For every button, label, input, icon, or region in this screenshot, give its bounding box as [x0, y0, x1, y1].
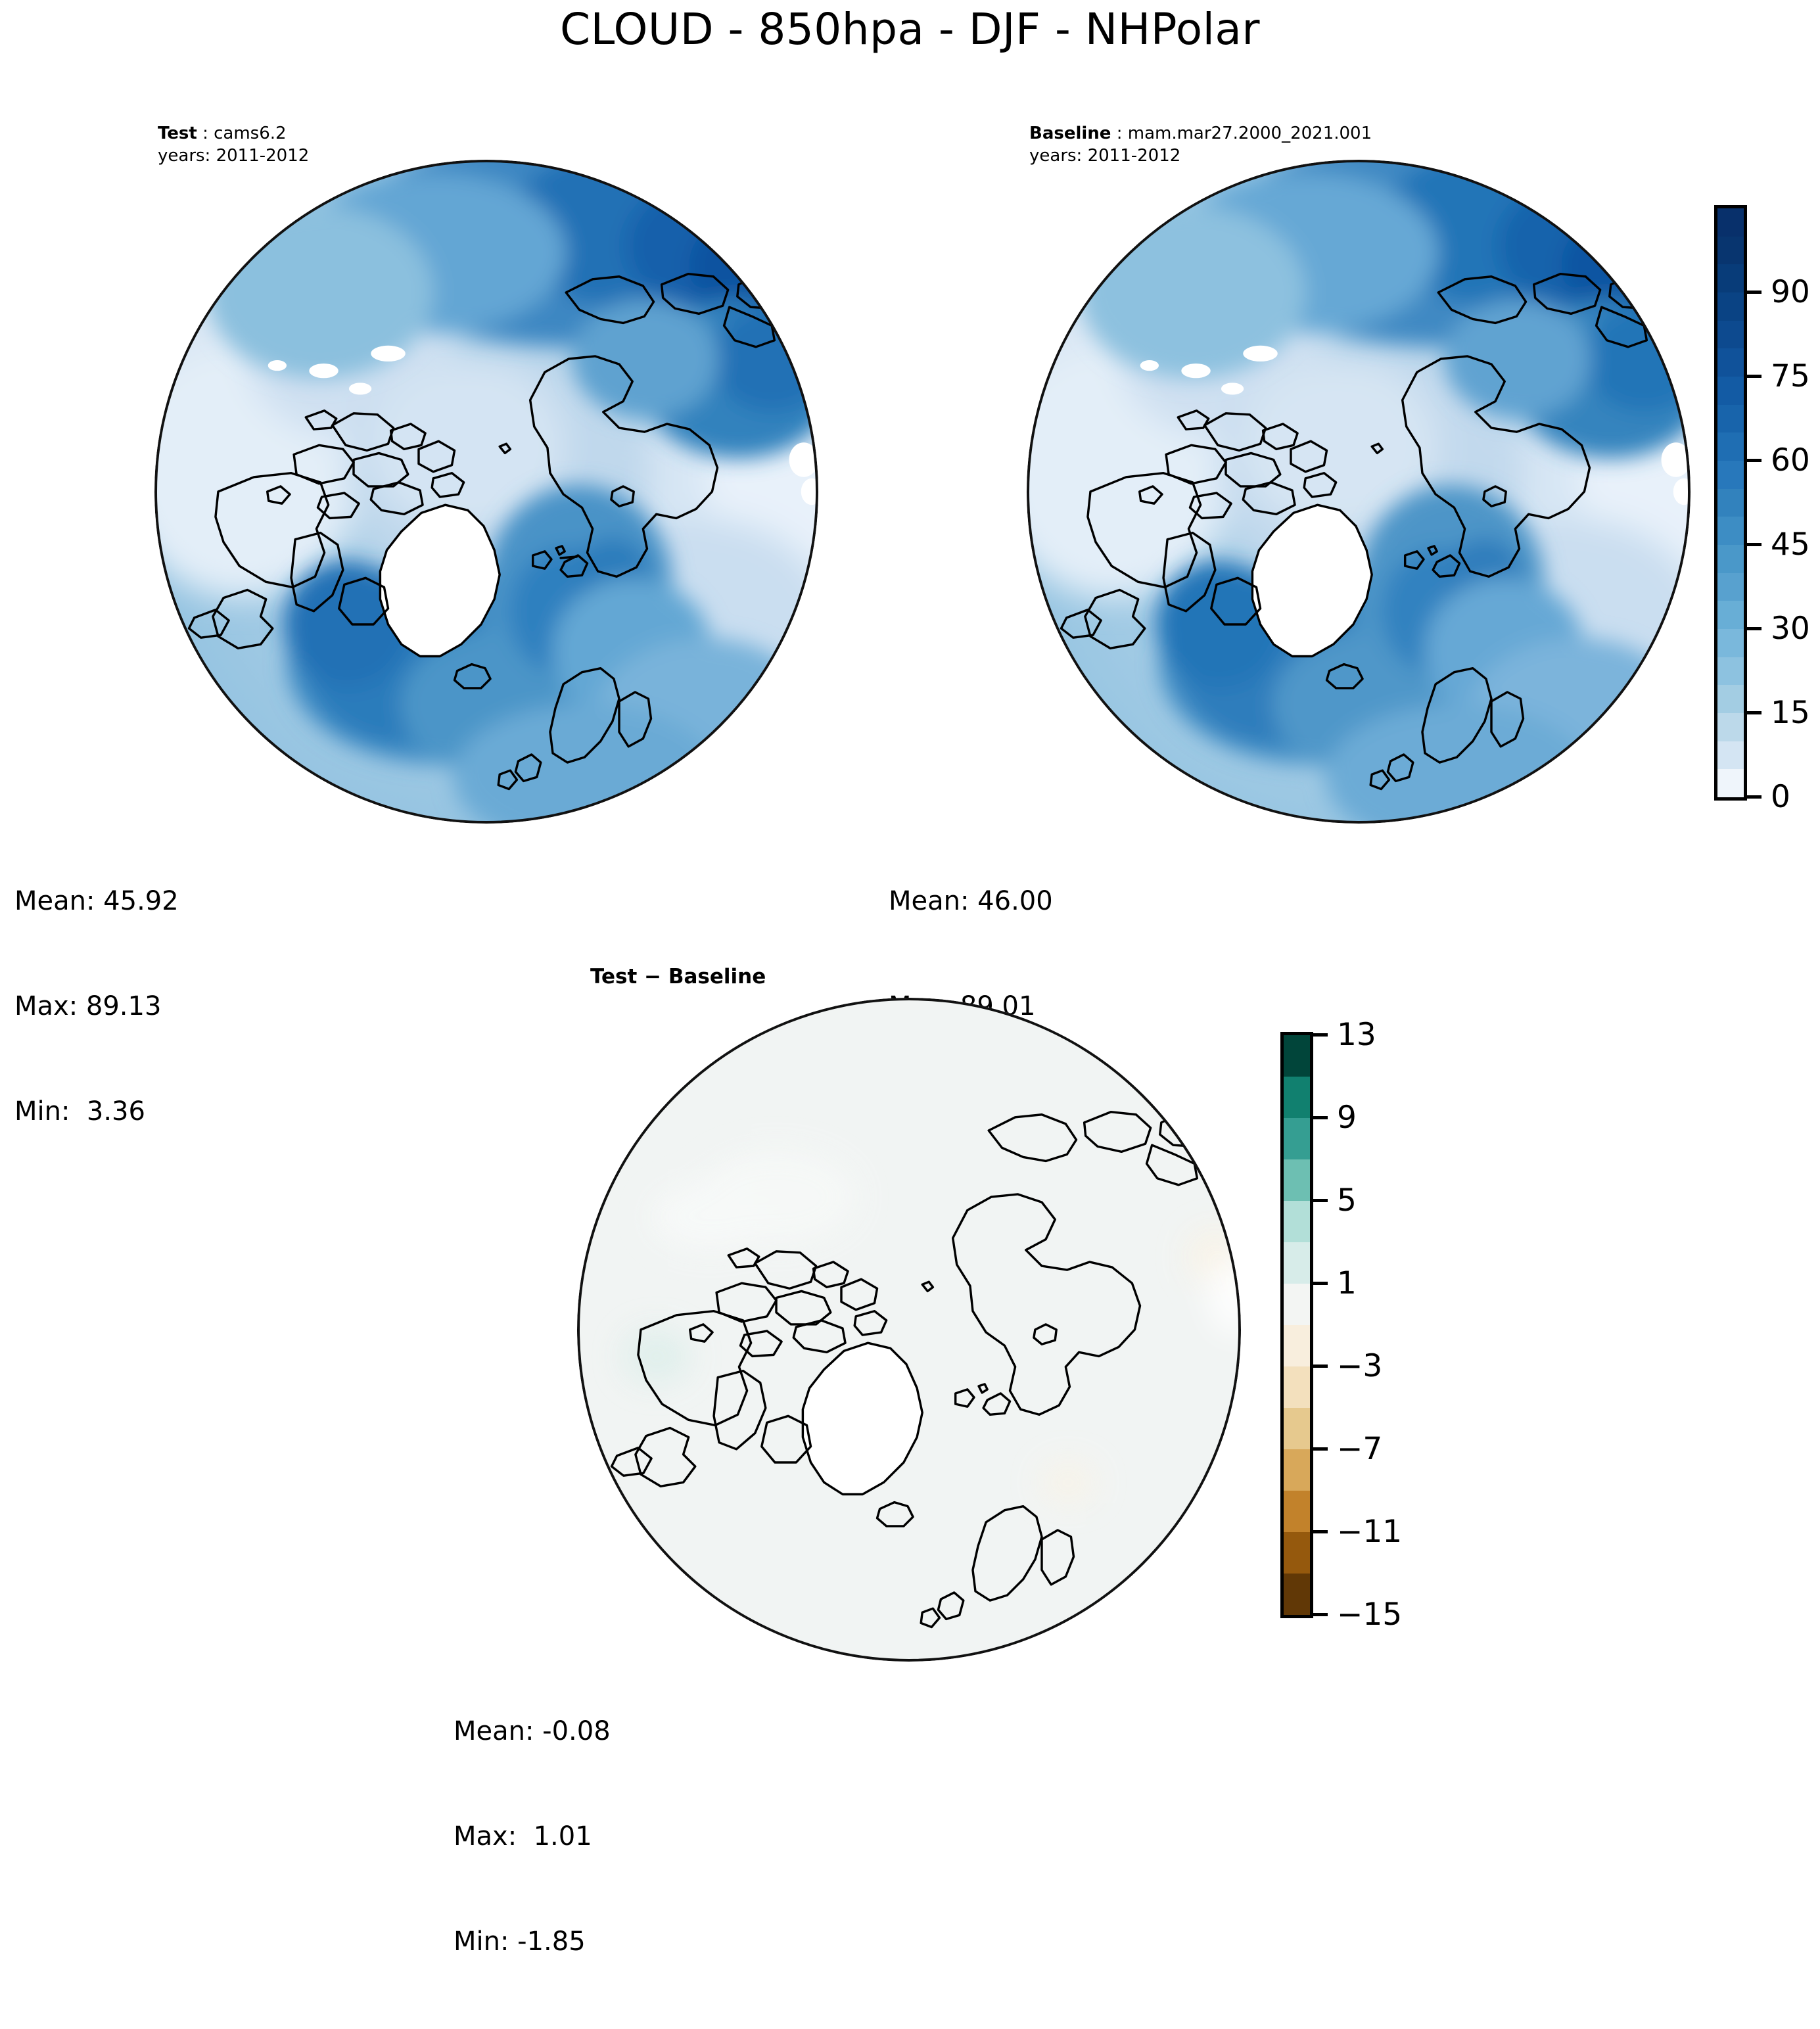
colorbar-band [1284, 1077, 1310, 1118]
colorbar-tick-label: 9 [1337, 1102, 1357, 1133]
colorbar-band [1717, 208, 1744, 237]
colorbar-tick-mark [1313, 1530, 1328, 1533]
colorbar-band [1284, 1201, 1310, 1242]
baseline-label-value: mam.mar27.2000_2021.001 [1128, 124, 1372, 143]
colorbar-band [1284, 1366, 1310, 1408]
diff-stat-mean: Mean: -0.08 [454, 1714, 611, 1749]
colorbar-tick-label: 5 [1337, 1185, 1357, 1216]
colorbar-tick-label: 45 [1771, 529, 1810, 560]
colorbar-band [1717, 601, 1744, 629]
diff-stats: Mean: -0.08 Max: 1.01 Min: -1.85 [454, 1644, 611, 2029]
figure-canvas: CLOUD - 850hpa - DJF - NHPolar Test : ca… [0, 0, 1820, 1753]
colorbar-band [1284, 1408, 1310, 1449]
colorbar-tick-mark [1747, 795, 1762, 799]
colorbar-band [1717, 321, 1744, 349]
baseline-label-sep: : [1111, 124, 1127, 143]
colorbar-band [1717, 685, 1744, 713]
colorbar-band [1284, 1284, 1310, 1325]
colorbar-band [1284, 1574, 1310, 1615]
colorbar-tick: 9 [1313, 1102, 1357, 1133]
diff-stat-min: Min: -1.85 [454, 1924, 611, 1959]
colorbar-tick-mark [1313, 1199, 1328, 1202]
colorbar-tick-mark [1313, 1282, 1328, 1285]
diff-colorbar-ticks: 13951−3−7−11−15 [1313, 1032, 1458, 1618]
colorbar-band [1717, 713, 1744, 741]
colorbar-band [1717, 348, 1744, 377]
colorbar-tick: 90 [1747, 277, 1810, 308]
test-stat-max: Max: 89.13 [14, 989, 179, 1024]
colorbar-tick-mark [1313, 1033, 1328, 1037]
test-map-clip [154, 160, 818, 824]
diff-map-panel [577, 998, 1241, 1662]
baseline-map-clip [1027, 160, 1691, 824]
colorbar-band [1717, 377, 1744, 405]
colorbar-band [1717, 292, 1744, 321]
colorbar-tick-label: 30 [1771, 613, 1810, 644]
main-colorbar-ticks: 9075604530150 [1747, 205, 1820, 801]
baseline-stat-mean: Mean: 46.00 [889, 884, 1053, 919]
colorbar-tick-mark [1313, 1447, 1328, 1451]
colorbar-tick-mark [1747, 375, 1762, 378]
colorbar-tick-label: 1 [1337, 1268, 1357, 1299]
colorbar-band [1717, 741, 1744, 770]
colorbar-tick: 45 [1747, 529, 1810, 560]
colorbar-tick-mark [1747, 291, 1762, 294]
colorbar-tick: 1 [1313, 1268, 1357, 1299]
figure-suptitle: CLOUD - 850hpa - DJF - NHPolar [0, 4, 1820, 55]
test-stats: Mean: 45.92 Max: 89.13 Min: 3.36 [14, 814, 179, 1199]
colorbar-band [1717, 629, 1744, 657]
diff-panel-title: Test − Baseline [590, 965, 766, 989]
colorbar-band [1717, 517, 1744, 545]
colorbar-band [1717, 545, 1744, 573]
colorbar-tick: −15 [1313, 1599, 1402, 1630]
colorbar-band [1284, 1242, 1310, 1284]
test-label-strong: Test [158, 124, 197, 143]
colorbar-tick: −3 [1313, 1351, 1382, 1382]
baseline-map-panel [1027, 160, 1691, 824]
colorbar-band [1717, 769, 1744, 797]
colorbar-band [1284, 1325, 1310, 1366]
colorbar-band [1717, 461, 1744, 489]
colorbar-tick: 15 [1747, 697, 1810, 728]
colorbar-band [1284, 1035, 1310, 1077]
colorbar-tick-label: 90 [1771, 277, 1810, 308]
colorbar-tick: −11 [1313, 1516, 1402, 1547]
colorbar-tick-mark [1313, 1364, 1328, 1368]
colorbar-band [1717, 657, 1744, 686]
colorbar-tick-label: −15 [1337, 1599, 1402, 1630]
colorbar-tick-mark [1747, 711, 1762, 714]
colorbar-band [1284, 1118, 1310, 1159]
baseline-panel-header: Baseline : mam.mar27.2000_2021.001 years… [1029, 122, 1372, 168]
colorbar-tick: 60 [1747, 445, 1810, 476]
colorbar-tick: 5 [1313, 1185, 1357, 1216]
colorbar-tick-label: −3 [1337, 1351, 1382, 1382]
diff-map-clip [577, 998, 1241, 1662]
colorbar-tick-label: 15 [1771, 697, 1810, 728]
test-label-sep: : [197, 124, 214, 143]
test-label-value: cams6.2 [214, 124, 286, 143]
baseline-label-strong: Baseline [1029, 124, 1111, 143]
diff-stat-max: Max: 1.01 [454, 1819, 611, 1854]
colorbar-tick-label: −11 [1337, 1516, 1402, 1547]
colorbar-tick-label: −7 [1337, 1434, 1382, 1464]
colorbar-tick-mark [1747, 459, 1762, 462]
colorbar-tick-mark [1313, 1613, 1328, 1616]
colorbar-tick-mark [1747, 627, 1762, 630]
colorbar-tick-mark [1747, 543, 1762, 546]
test-map-panel [154, 160, 818, 824]
colorbar-tick-label: 0 [1771, 781, 1790, 812]
colorbar-band [1284, 1491, 1310, 1532]
colorbar-tick-label: 13 [1337, 1019, 1376, 1050]
diff-colorbar[interactable] [1280, 1032, 1313, 1618]
colorbar-tick: 30 [1747, 613, 1810, 644]
baseline-map-svg [1027, 160, 1691, 824]
colorbar-band [1717, 489, 1744, 517]
colorbar-tick-label: 75 [1771, 361, 1810, 392]
colorbar-band [1284, 1532, 1310, 1574]
colorbar-tick-mark [1313, 1116, 1328, 1119]
colorbar-tick: 75 [1747, 361, 1810, 392]
diff-map-svg [577, 998, 1241, 1662]
colorbar-band [1717, 405, 1744, 433]
colorbar-band [1284, 1449, 1310, 1491]
colorbar-tick: 0 [1747, 781, 1790, 812]
colorbar-band [1717, 573, 1744, 601]
test-years: years: 2011-2012 [158, 145, 309, 167]
colorbar-tick-label: 60 [1771, 445, 1810, 476]
colorbar-tick: −7 [1313, 1434, 1382, 1464]
colorbar-tick: 13 [1313, 1019, 1376, 1050]
test-stat-mean: Mean: 45.92 [14, 884, 179, 919]
colorbar-band [1284, 1159, 1310, 1201]
colorbar-band [1717, 264, 1744, 292]
test-panel-header: Test : cams6.2 years: 2011-2012 [158, 122, 309, 168]
test-stat-min: Min: 3.36 [14, 1094, 179, 1129]
colorbar-band [1717, 237, 1744, 265]
main-colorbar[interactable] [1714, 205, 1747, 801]
test-map-svg [154, 160, 818, 824]
colorbar-band [1717, 432, 1744, 461]
